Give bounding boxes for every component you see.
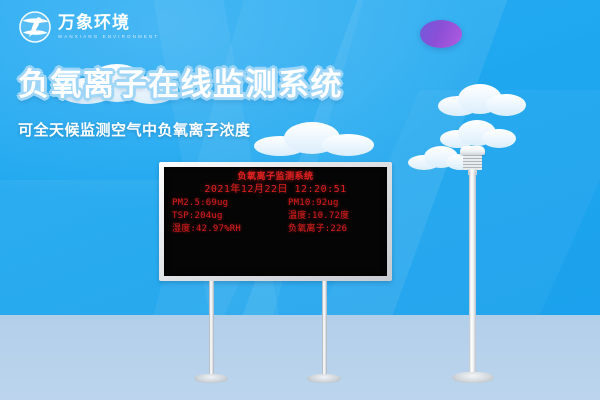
led-reading-anion: 负氧离子:226 [282, 223, 379, 235]
led-reading-tsp: TSP:204ug [172, 210, 282, 222]
led-reading-temperature: 温度:10.72度 [282, 210, 379, 222]
led-reading-humidity: 湿度:42.97%RH [172, 223, 282, 235]
brand-name-en: WANXIANG ENVIRONMENT [58, 34, 159, 40]
sensor-shield [463, 155, 482, 170]
led-readings-grid: PM2.5:69ug PM10:92ug TSP:204ug 温度:10.72度… [172, 197, 379, 235]
led-screen-title: 负氧离子监测系统 [172, 172, 379, 183]
poster-canvas: 万象环境 WANXIANG ENVIRONMENT 负氧离子在线监测系统 可全天… [0, 0, 600, 400]
billboard-base-right [307, 374, 341, 383]
globe-swoosh-logo-icon [18, 10, 52, 44]
billboard-leg-right [322, 281, 327, 379]
page-subtitle: 可全天候监测空气中负氧离子浓度 [18, 123, 251, 138]
brand-logo[interactable]: 万象环境 WANXIANG ENVIRONMENT [18, 10, 139, 44]
led-reading-pm25: PM2.5:69ug [172, 197, 282, 209]
led-billboard: 负氧离子监测系统 2021年12月22日 12:20:51 PM2.5:69ug… [159, 162, 392, 281]
led-screen: 负氧离子监测系统 2021年12月22日 12:20:51 PM2.5:69ug… [164, 167, 387, 276]
led-reading-pm10: PM10:92ug [282, 197, 379, 209]
sensor-cap [460, 146, 485, 155]
sensor-mast-base [452, 372, 494, 383]
brand-name-cn: 万象环境 [58, 15, 139, 33]
radiation-shield-sensor-icon [459, 146, 486, 174]
sensor-mast-icon [469, 172, 476, 377]
page-title: 负氧离子在线监测系统 [18, 70, 343, 101]
billboard-base-left [194, 374, 228, 383]
ground-plane [0, 315, 600, 400]
billboard-leg-left [209, 281, 214, 379]
purple-ellipse-icon [420, 20, 462, 48]
led-datetime: 2021年12月22日 12:20:51 [172, 183, 379, 196]
